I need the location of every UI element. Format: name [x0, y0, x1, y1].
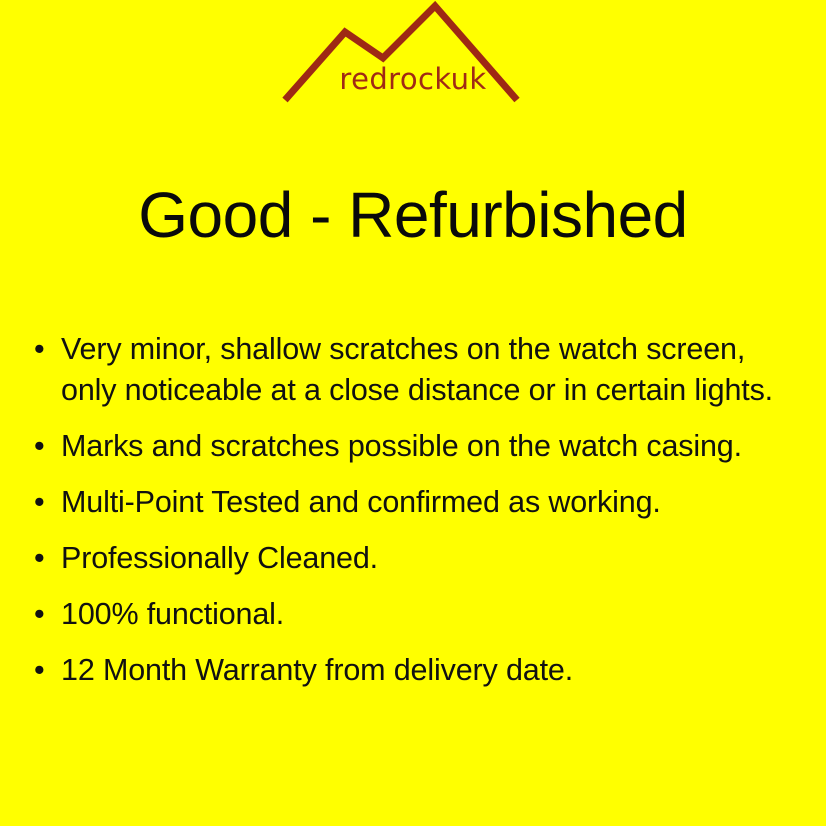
brand-logo: redrockuk	[0, 0, 826, 112]
list-item: • Marks and scratches possible on the wa…	[31, 426, 799, 467]
list-item-text: 100% functional.	[61, 594, 799, 635]
list-item-text: Multi-Point Tested and confirmed as work…	[61, 482, 799, 523]
bullet-marker-icon: •	[34, 594, 45, 635]
bullet-marker-icon: •	[34, 482, 45, 523]
list-item-text: Marks and scratches possible on the watc…	[61, 426, 799, 467]
list-item: • 12 Month Warranty from delivery date.	[31, 650, 799, 691]
page-title: Good - Refurbished	[0, 178, 826, 252]
list-item: • Professionally Cleaned.	[31, 538, 799, 579]
list-item: • Very minor, shallow scratches on the w…	[31, 329, 799, 411]
list-item: • Multi-Point Tested and confirmed as wo…	[31, 482, 799, 523]
list-item-text: Professionally Cleaned.	[61, 538, 799, 579]
bullet-marker-icon: •	[34, 538, 45, 579]
list-item-text: 12 Month Warranty from delivery date.	[61, 650, 799, 691]
list-item-text: Very minor, shallow scratches on the wat…	[61, 329, 799, 411]
bullet-marker-icon: •	[34, 329, 45, 370]
list-item: • 100% functional.	[31, 594, 799, 635]
bullet-marker-icon: •	[34, 650, 45, 691]
refurbished-condition-card: redrockuk Good - Refurbished • Very mino…	[0, 0, 826, 826]
bullet-marker-icon: •	[34, 426, 45, 467]
brand-wordmark: redrockuk	[0, 62, 826, 96]
condition-bullet-list: • Very minor, shallow scratches on the w…	[31, 329, 799, 691]
